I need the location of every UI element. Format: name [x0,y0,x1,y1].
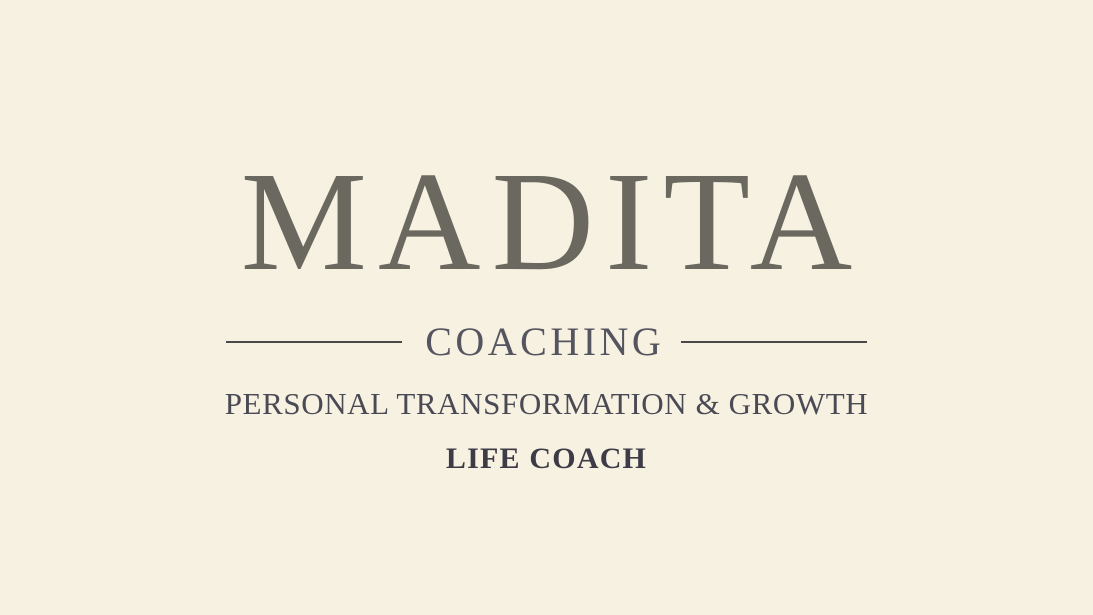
role-label: LIFE COACH [446,444,647,474]
tagline: PERSONAL TRANSFORMATION & GROWTH [225,388,869,419]
divider-rule-right [681,341,867,343]
brand-name: MADITA [230,150,864,292]
divider-row: COACHING [232,322,862,362]
divider-rule-left [226,341,402,343]
sub-brand-label: COACHING [422,322,665,362]
logo-lockup: MADITA COACHING PERSONAL TRANSFORMATION … [0,0,1093,474]
business-card-canvas: MADITA COACHING PERSONAL TRANSFORMATION … [0,0,1093,615]
